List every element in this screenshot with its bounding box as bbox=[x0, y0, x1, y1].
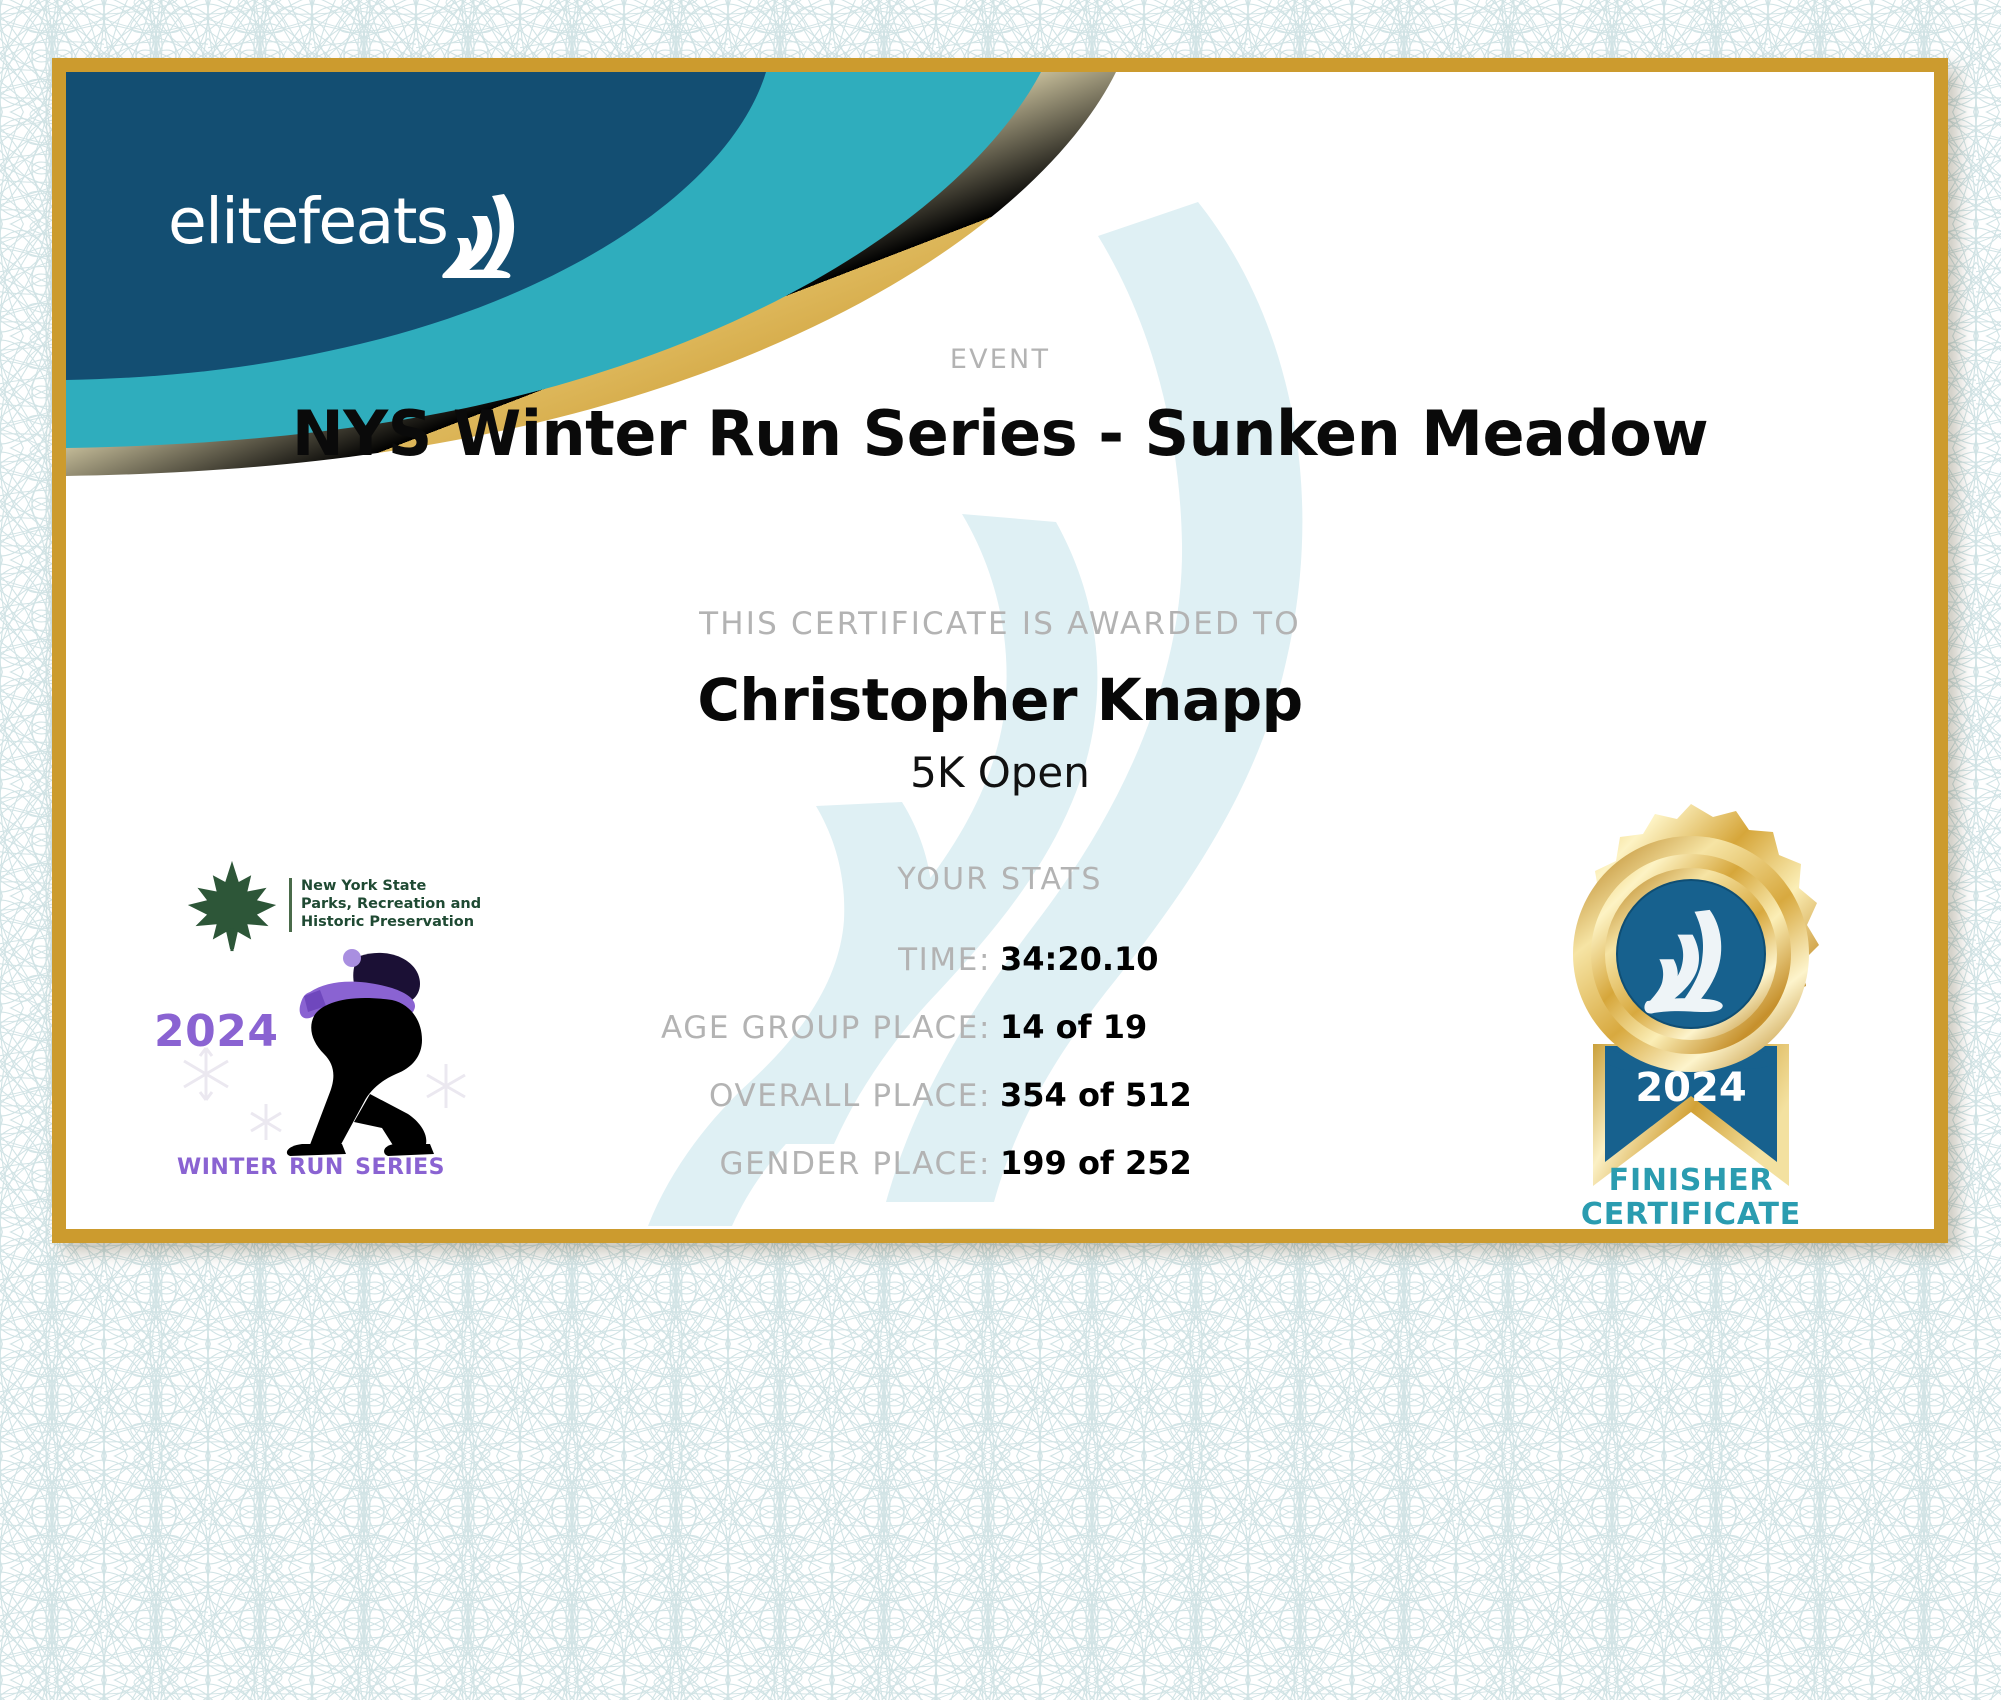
finisher-line-2: CERTIFICATE bbox=[1511, 1198, 1871, 1229]
nys-line-1: New York State bbox=[301, 878, 481, 896]
certificate-page: elitefeats EVENT NYS Winter Run Series -… bbox=[0, 0, 2001, 1700]
nys-parks-logo: New York State Parks, Recreation and His… bbox=[184, 857, 484, 953]
finisher-line-1: FINISHER bbox=[1511, 1164, 1871, 1198]
elitefeats-logo: elitefeats bbox=[168, 190, 525, 278]
awarded-to-label: THIS CERTIFICATE IS AWARDED TO bbox=[66, 606, 1934, 642]
event-title: NYS Winter Run Series - Sunken Meadow bbox=[66, 397, 1934, 470]
event-label: EVENT bbox=[66, 344, 1934, 375]
certificate-frame: elitefeats EVENT NYS Winter Run Series -… bbox=[52, 58, 1948, 1243]
series-year: 2024 bbox=[154, 1006, 278, 1057]
nys-line-3: Historic Preservation bbox=[301, 914, 481, 932]
award-ribbon-icon: 2024 bbox=[1531, 794, 1851, 1214]
finisher-certificate-caption: FINISHER CERTIFICATE bbox=[1511, 1164, 1871, 1229]
certificate-body: elitefeats EVENT NYS Winter Run Series -… bbox=[66, 72, 1934, 1229]
division-label: 5K Open bbox=[66, 748, 1934, 797]
winged-foot-icon bbox=[441, 192, 525, 278]
nys-parks-text: New York State Parks, Recreation and His… bbox=[289, 878, 481, 932]
recipient-name: Christopher Knapp bbox=[66, 666, 1934, 734]
nys-line-2: Parks, Recreation and bbox=[301, 896, 481, 914]
ribbon-year-text: 2024 bbox=[1635, 1065, 1746, 1111]
maple-leaf-icon bbox=[184, 857, 280, 953]
elitefeats-wordmark: elitefeats bbox=[168, 190, 447, 253]
series-title: Winter Run Series bbox=[146, 1146, 476, 1182]
winter-run-series-logo: 2024 Winter Run Series bbox=[146, 944, 476, 1194]
